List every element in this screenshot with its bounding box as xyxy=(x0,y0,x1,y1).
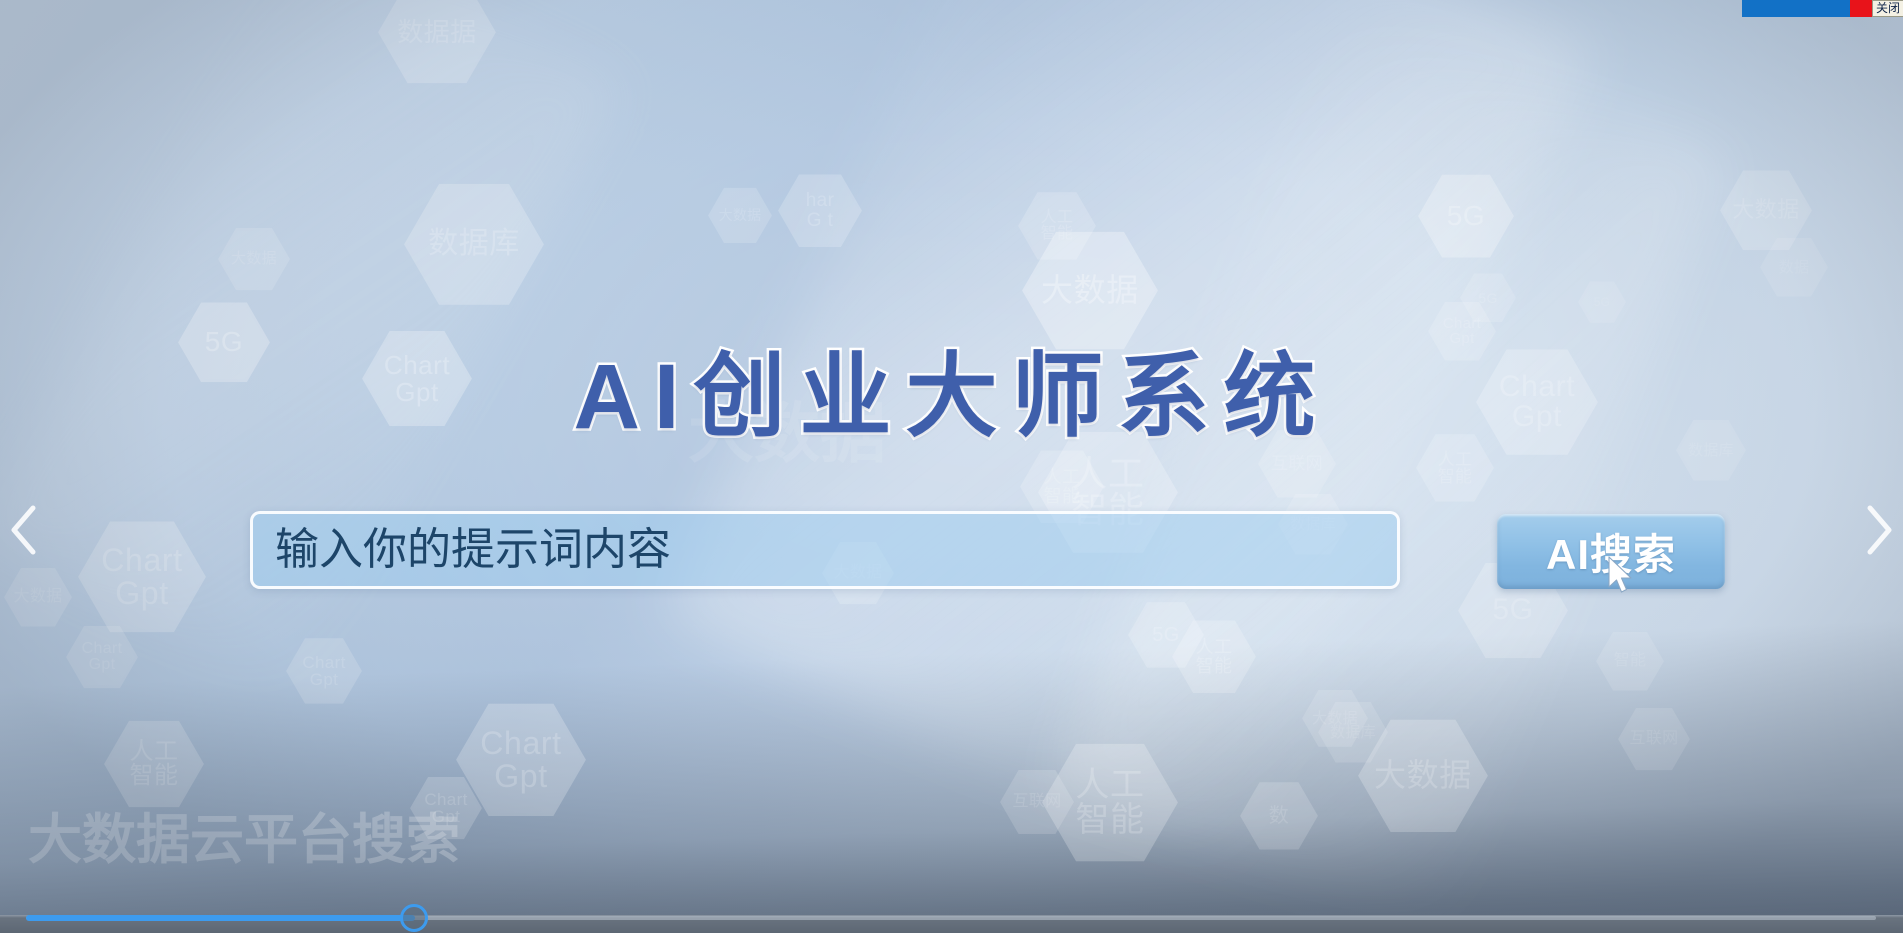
hero-vignette xyxy=(0,0,1903,915)
hexagon-label: 5G xyxy=(1447,202,1485,231)
hexagon-label: 数据据 xyxy=(397,19,477,46)
hexagon-label: Chart Gpt xyxy=(82,641,123,674)
hexagon-label: Chart Gpt xyxy=(302,654,345,689)
hexagon-label: 人工 智能 xyxy=(1075,768,1144,837)
hexagon-label: 大数据 xyxy=(1374,759,1472,792)
hexagon-label: har G t xyxy=(806,191,835,230)
slider-fill xyxy=(26,915,415,921)
hexagon-label: 数据库 xyxy=(428,229,520,260)
hexagon-label: 5G xyxy=(1152,625,1179,645)
carousel-next-button[interactable] xyxy=(1855,500,1901,560)
hexagon-badge: 数据库 xyxy=(404,180,544,309)
hexagon-badge: 人工 智能 xyxy=(104,718,204,810)
hexagon-label: 人工 智能 xyxy=(130,740,179,789)
hexagon-badge: 5G xyxy=(1418,172,1514,260)
progress-slider[interactable] xyxy=(0,900,1903,933)
hexagon-label: 互联网 xyxy=(1013,794,1062,810)
hexagon-label: 数据库 xyxy=(1330,725,1376,740)
app-root: 数据据数据库大数据5GChart GptChart Gpt大数据Chart Gp… xyxy=(0,0,1903,933)
search-row: AI搜索 xyxy=(0,511,1903,593)
hexagon-label: 大数据 xyxy=(231,251,277,266)
hexagon-label: 5G xyxy=(1492,595,1533,626)
hexagon-badge: 数 xyxy=(1240,780,1318,852)
hexagon-badge: har G t xyxy=(778,172,862,249)
hexagon-label: 数据 xyxy=(1779,260,1810,275)
hexagon-label: 大数据 xyxy=(719,208,762,222)
ai-search-button[interactable]: AI搜索 xyxy=(1497,514,1725,589)
hexagon-label: 数 xyxy=(1269,806,1289,826)
hexagon-label: 互联网 xyxy=(1271,455,1323,472)
slider-handle[interactable] xyxy=(400,904,428,932)
top-window-chrome: 关闭 xyxy=(1742,0,1903,17)
search-input[interactable] xyxy=(250,511,1400,589)
page-title: AI创业大师系统 xyxy=(0,322,1903,455)
hexagon-label: 大数据 xyxy=(1041,274,1139,307)
chevron-left-icon xyxy=(2,500,48,560)
hexagon-label: 人工 智能 xyxy=(1438,451,1473,486)
carousel-prev-button[interactable] xyxy=(2,500,48,560)
hexagon-label: 大数据 xyxy=(1732,199,1799,221)
hexagon-label: 5G xyxy=(1594,296,1611,308)
background-watermark-text: 大数据云平台搜索 xyxy=(28,795,460,874)
hexagon-badge: 数据据 xyxy=(378,0,496,87)
hexagon-badge: 智能 xyxy=(1596,630,1664,693)
chrome-red-bar xyxy=(1850,0,1872,17)
hexagon-label: 5G xyxy=(1478,291,1497,305)
hexagon-label: 智能 xyxy=(1614,653,1647,669)
hexagon-badge: 大数据 xyxy=(218,226,290,292)
hexagon-badge: Chart Gpt xyxy=(286,636,362,706)
chevron-right-icon xyxy=(1855,500,1901,560)
hero-background: 数据据数据库大数据5GChart GptChart Gpt大数据Chart Gp… xyxy=(0,0,1903,915)
hexagon-label: 人工 智能 xyxy=(1196,638,1233,675)
hexagon-badge: 互联网 xyxy=(1618,706,1690,772)
hexagon-label: 互联网 xyxy=(1630,731,1679,747)
close-button[interactable]: 关闭 xyxy=(1872,0,1903,17)
chrome-blue-bar xyxy=(1742,0,1850,17)
hexagon-label: Chart Gpt xyxy=(424,791,467,826)
hexagon-badge: Chart Gpt xyxy=(66,624,138,690)
hexagon-label: Chart Gpt xyxy=(480,727,561,792)
hexagon-badge: 大数据 xyxy=(708,186,772,245)
hexagon-badge: 5G xyxy=(1578,280,1626,324)
